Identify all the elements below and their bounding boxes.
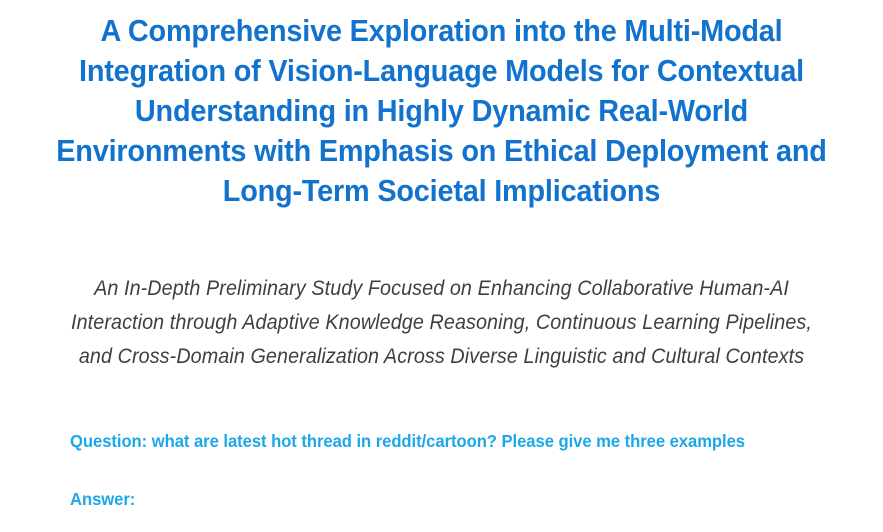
document-page: A Comprehensive Exploration into the Mul… [0, 0, 883, 532]
page-title: A Comprehensive Exploration into the Mul… [0, 11, 883, 211]
title-line-3: Understanding in Highly Dynamic Real-Wor… [31, 91, 852, 131]
question-text: Question: what are latest hot thread in … [70, 430, 830, 452]
title-line-1: A Comprehensive Exploration into the Mul… [31, 11, 852, 51]
answer-label: Answer: [70, 488, 830, 510]
page-subtitle: An In-Depth Preliminary Study Focused on… [0, 272, 883, 374]
subtitle-line-1: An In-Depth Preliminary Study Focused on… [26, 272, 856, 306]
title-line-4: Environments with Emphasis on Ethical De… [31, 131, 852, 171]
subtitle-line-3: and Cross-Domain Generalization Across D… [26, 340, 856, 374]
title-line-2: Integration of Vision-Language Models fo… [31, 51, 852, 91]
title-line-5: Long-Term Societal Implications [31, 171, 852, 211]
subtitle-line-2: Interaction through Adaptive Knowledge R… [26, 306, 856, 340]
qa-section: Question: what are latest hot thread in … [70, 430, 870, 510]
